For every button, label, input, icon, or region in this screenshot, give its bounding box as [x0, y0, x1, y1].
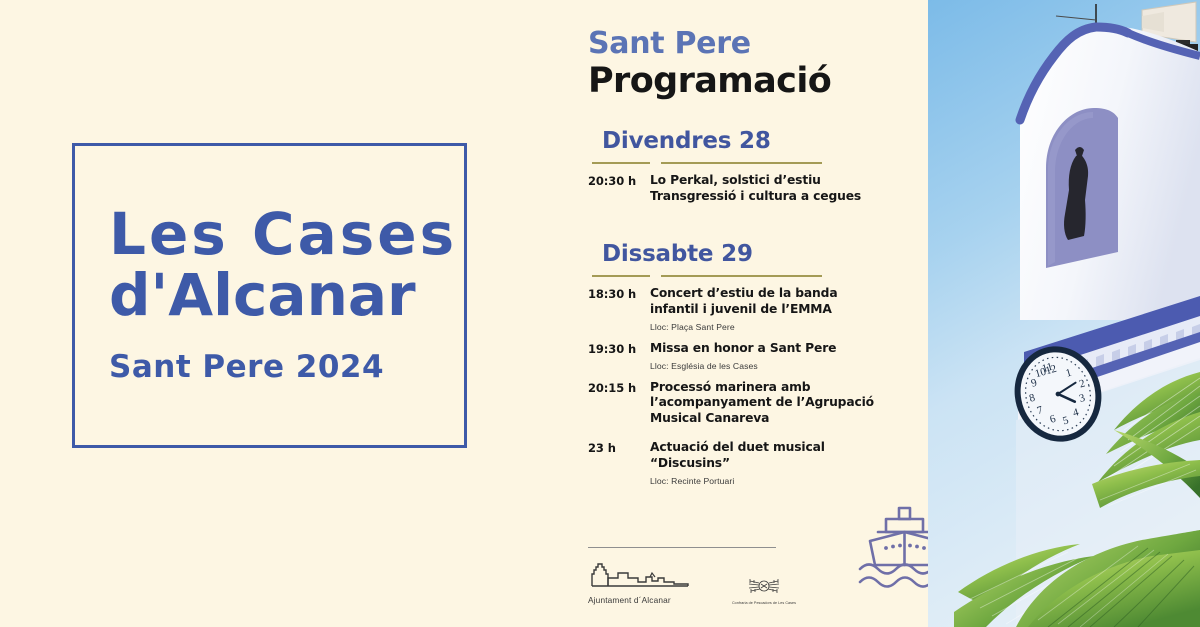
event-time: 19:30 h — [588, 341, 650, 371]
event-title: Lo Perkal, solstici d’estiuTransgressió … — [650, 173, 928, 205]
event-row: 18:30 h Concert d’estiu de la bandainfan… — [588, 286, 928, 332]
bell-tower — [1020, 25, 1200, 320]
event-title: Concert d’estiu de la bandainfantil i ju… — [650, 286, 928, 318]
event-title: Actuació del duet musical“Discusins” — [650, 440, 928, 472]
poster-title-line-1: Les Cases — [109, 206, 464, 263]
logo-ajuntament: Ajuntament d´Alcanar — [588, 562, 698, 605]
divider-event-col — [661, 275, 822, 277]
divider-time-col — [592, 275, 650, 277]
day-block-divendres: Divendres 28 20:30 h Lo Perkal, solstici… — [588, 128, 928, 209]
footer: Ajuntament d´Alcanar Confraria de — [588, 547, 918, 605]
title-frame: Les Cases d'Alcanar Sant Pere 2024 — [72, 143, 467, 448]
event-time: 20:30 h — [588, 173, 650, 209]
event-row: 20:15 h Processó marinera ambl’acompanya… — [588, 380, 928, 432]
poster-subtitle: Sant Pere 2024 — [109, 349, 464, 385]
event-place: Lloc: Plaça Sant Pere — [650, 322, 928, 332]
day-divider — [588, 162, 928, 164]
poster-title-line-2: d'Alcanar — [109, 267, 464, 324]
left-panel: Les Cases d'Alcanar Sant Pere 2024 — [0, 0, 560, 627]
logo-confraria: Confraria de Pescadors de Les Cases — [730, 577, 798, 605]
event-time: 20:15 h — [588, 380, 650, 432]
event-place: Lloc: Recinte Portuari — [650, 476, 928, 486]
event-title: Missa en honor a Sant Pere — [650, 341, 928, 357]
poster: Les Cases d'Alcanar Sant Pere 2024 Sant … — [0, 0, 1200, 627]
page-title: Programació — [588, 62, 928, 101]
event-time: 18:30 h — [588, 286, 650, 332]
day-block-dissabte: Dissabte 29 18:30 h Concert d’estiu de l… — [588, 241, 928, 487]
day-heading: Dissabte 29 — [588, 241, 928, 267]
header-eyebrow: Sant Pere — [588, 28, 928, 60]
photo-illustration: 12 1 2 3 4 5 6 7 8 9 10 11 — [928, 0, 1200, 627]
event-row: 19:30 h Missa en honor a Sant Pere Lloc:… — [588, 341, 928, 371]
title-frame-inner: Les Cases d'Alcanar Sant Pere 2024 — [75, 146, 464, 445]
day-divider — [588, 275, 928, 277]
footer-divider — [588, 547, 776, 548]
day-heading: Divendres 28 — [588, 128, 928, 154]
divider-event-col — [661, 162, 822, 164]
event-body: Missa en honor a Sant Pere Lloc: Esglési… — [650, 341, 928, 371]
event-time: 23 h — [588, 440, 650, 486]
logo-ajuntament-label: Ajuntament d´Alcanar — [588, 595, 698, 605]
event-body: Processó marinera ambl’acompanyament de … — [650, 380, 928, 432]
event-title: Processó marinera ambl’acompanyament de … — [650, 380, 928, 428]
event-body: Concert d’estiu de la bandainfantil i ju… — [650, 286, 928, 332]
program-panel: Sant Pere Programació Divendres 28 20:30… — [560, 0, 928, 627]
event-row: 20:30 h Lo Perkal, solstici d’estiuTrans… — [588, 173, 928, 209]
divider-time-col — [592, 162, 650, 164]
event-body: Actuació del duet musical“Discusins” Llo… — [650, 440, 928, 486]
castle-skyline-icon — [588, 562, 698, 588]
logo-confraria-label: Confraria de Pescadors de Les Cases — [730, 601, 798, 605]
event-body: Lo Perkal, solstici d’estiuTransgressió … — [650, 173, 928, 209]
photo-bell-tower: 12 1 2 3 4 5 6 7 8 9 10 11 — [928, 0, 1200, 627]
event-place: Lloc: Església de les Cases — [650, 361, 928, 371]
event-row: 23 h Actuació del duet musical“Discusins… — [588, 440, 928, 486]
fishing-net-knot-icon — [730, 577, 798, 595]
